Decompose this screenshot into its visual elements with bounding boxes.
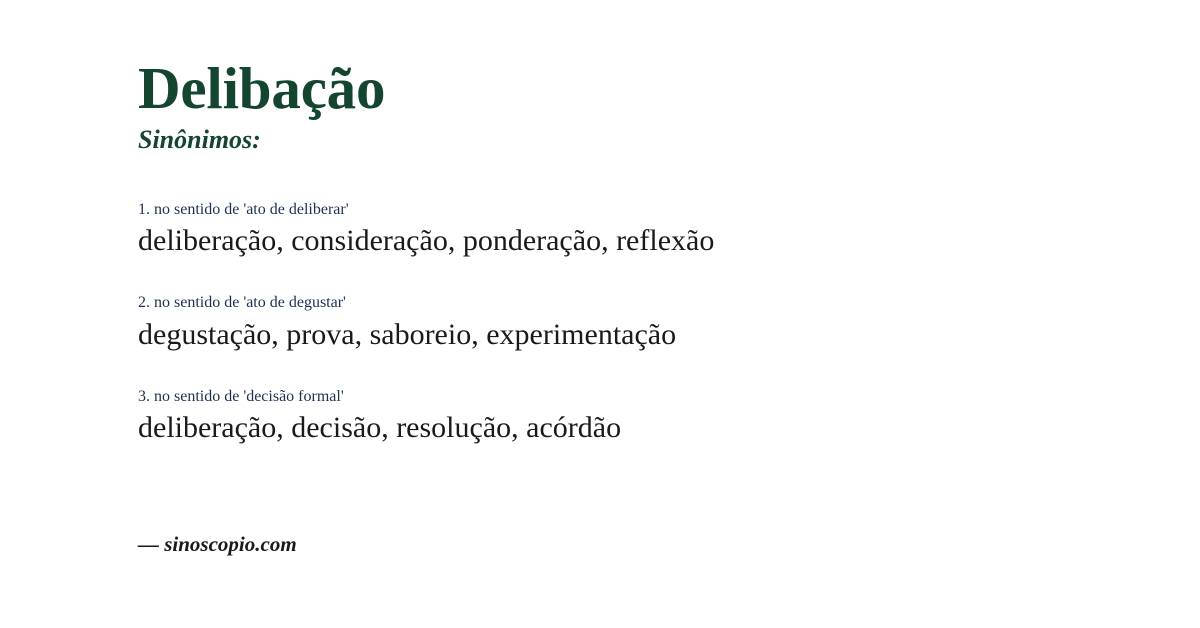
source-attribution: — sinoscopio.com: [138, 532, 297, 557]
synonym-card: Delibação Sinônimos: 1. no sentido de 'a…: [0, 0, 1200, 628]
page-title: Delibação: [138, 58, 1140, 119]
sense-synonyms: degustação, prova, saboreio, experimenta…: [138, 315, 1140, 354]
sense-entry: 1. no sentido de 'ato de deliberar' deli…: [138, 199, 1140, 261]
sense-label: 2. no sentido de 'ato de degustar': [138, 292, 1140, 314]
sense-entry: 2. no sentido de 'ato de degustar' degus…: [138, 292, 1140, 354]
sense-synonyms: deliberação, decisão, resolução, acórdão: [138, 408, 1140, 447]
sense-list: 1. no sentido de 'ato de deliberar' deli…: [138, 199, 1140, 448]
card-header: Delibação Sinônimos:: [138, 0, 1140, 155]
card-footer: — sinoscopio.com: [138, 532, 297, 557]
sense-label: 1. no sentido de 'ato de deliberar': [138, 199, 1140, 221]
synonyms-subtitle: Sinônimos:: [138, 125, 1140, 155]
sense-synonyms: deliberação, consideração, ponderação, r…: [138, 221, 1140, 260]
sense-label: 3. no sentido de 'decisão formal': [138, 386, 1140, 408]
sense-entry: 3. no sentido de 'decisão formal' delibe…: [138, 386, 1140, 448]
